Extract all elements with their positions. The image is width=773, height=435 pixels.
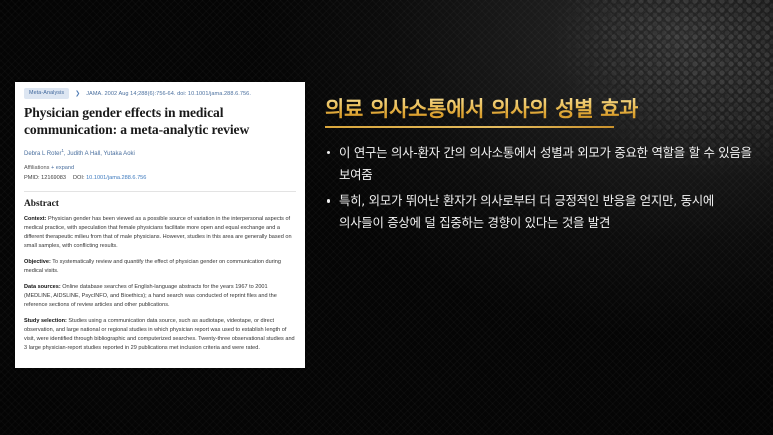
section-label-objective: Objective:: [24, 259, 51, 265]
article-title: Physician gender effects in medical comm…: [24, 105, 296, 138]
doi-link[interactable]: 10.1001/jama.288.6.756: [86, 175, 146, 181]
pubmed-article-card: Meta-Analysis ❯ JAMA. 2002 Aug 14;288(6)…: [15, 82, 305, 368]
section-text-objective: To systematically review and quantify th…: [24, 259, 281, 274]
affiliations-label: Affiliations: [24, 165, 49, 171]
chevron-right-icon: ❯: [75, 91, 80, 97]
pmid-label: PMID:: [24, 175, 40, 181]
citation-row: Meta-Analysis ❯ JAMA. 2002 Aug 14;288(6)…: [24, 88, 296, 99]
section-label-study-selection: Study selection:: [24, 318, 67, 324]
section-label-data-sources: Data sources:: [24, 284, 61, 290]
identifier-row: PMID: 12169083DOI: 10.1001/jama.288.6.75…: [24, 175, 296, 182]
affiliations-expand-toggle[interactable]: + expand: [51, 165, 74, 171]
slide-title: 의료 의사소통에서 의사의 성별 효과: [325, 96, 638, 125]
author-list: Debra L Roter1, Judith A Hall, Yutaka Ao…: [24, 148, 296, 158]
article-card-content: Meta-Analysis ❯ JAMA. 2002 Aug 14;288(6)…: [15, 82, 305, 353]
abstract-section-study-selection: Study selection: Studies using a communi…: [24, 317, 296, 353]
presentation-slide: Meta-Analysis ❯ JAMA. 2002 Aug 14;288(6)…: [0, 0, 773, 435]
author-primary[interactable]: Debra L Roter: [24, 151, 61, 157]
affiliations-row[interactable]: Affiliations + expand: [24, 165, 296, 172]
title-underline: [325, 126, 614, 127]
abstract-section-context: Context: Physician gender has been viewe…: [24, 215, 296, 251]
journal-citation[interactable]: JAMA. 2002 Aug 14;288(6):756-64. doi: 10…: [86, 91, 251, 97]
author-others[interactable]: , Judith A Hall, Yutaka Aoki: [64, 151, 135, 157]
bullet-item-1: 이 연구는 의사-환자 간의 의사소통에서 성별과 외모가 중요한 역할을 할 …: [325, 142, 757, 186]
doi-label: DOI:: [73, 175, 85, 181]
abstract-heading: Abstract: [24, 199, 296, 209]
section-label-context: Context:: [24, 216, 47, 222]
slide-text-pane: 의료 의사소통에서 의사의 성별 효과 이 연구는 의사-환자 간의 의사소통에…: [325, 96, 757, 238]
section-text-data-sources: Online database searches of English-lang…: [24, 284, 277, 308]
abstract-section-data-sources: Data sources: Online database searches o…: [24, 283, 296, 310]
divider: [24, 191, 296, 192]
section-text-context: Physician gender has been viewed as a po…: [24, 216, 292, 249]
abstract-section-objective: Objective: To systematically review and …: [24, 258, 296, 276]
pmid-value: 12169083: [41, 175, 66, 181]
bullet-list: 이 연구는 의사-환자 간의 의사소통에서 성별과 외모가 중요한 역할을 할 …: [325, 142, 757, 234]
publication-type-badge: Meta-Analysis: [24, 88, 69, 99]
bullet-item-2: 특히, 외모가 뛰어난 환자가 의사로부터 더 긍정적인 반응을 얻지만, 동시…: [325, 190, 757, 234]
